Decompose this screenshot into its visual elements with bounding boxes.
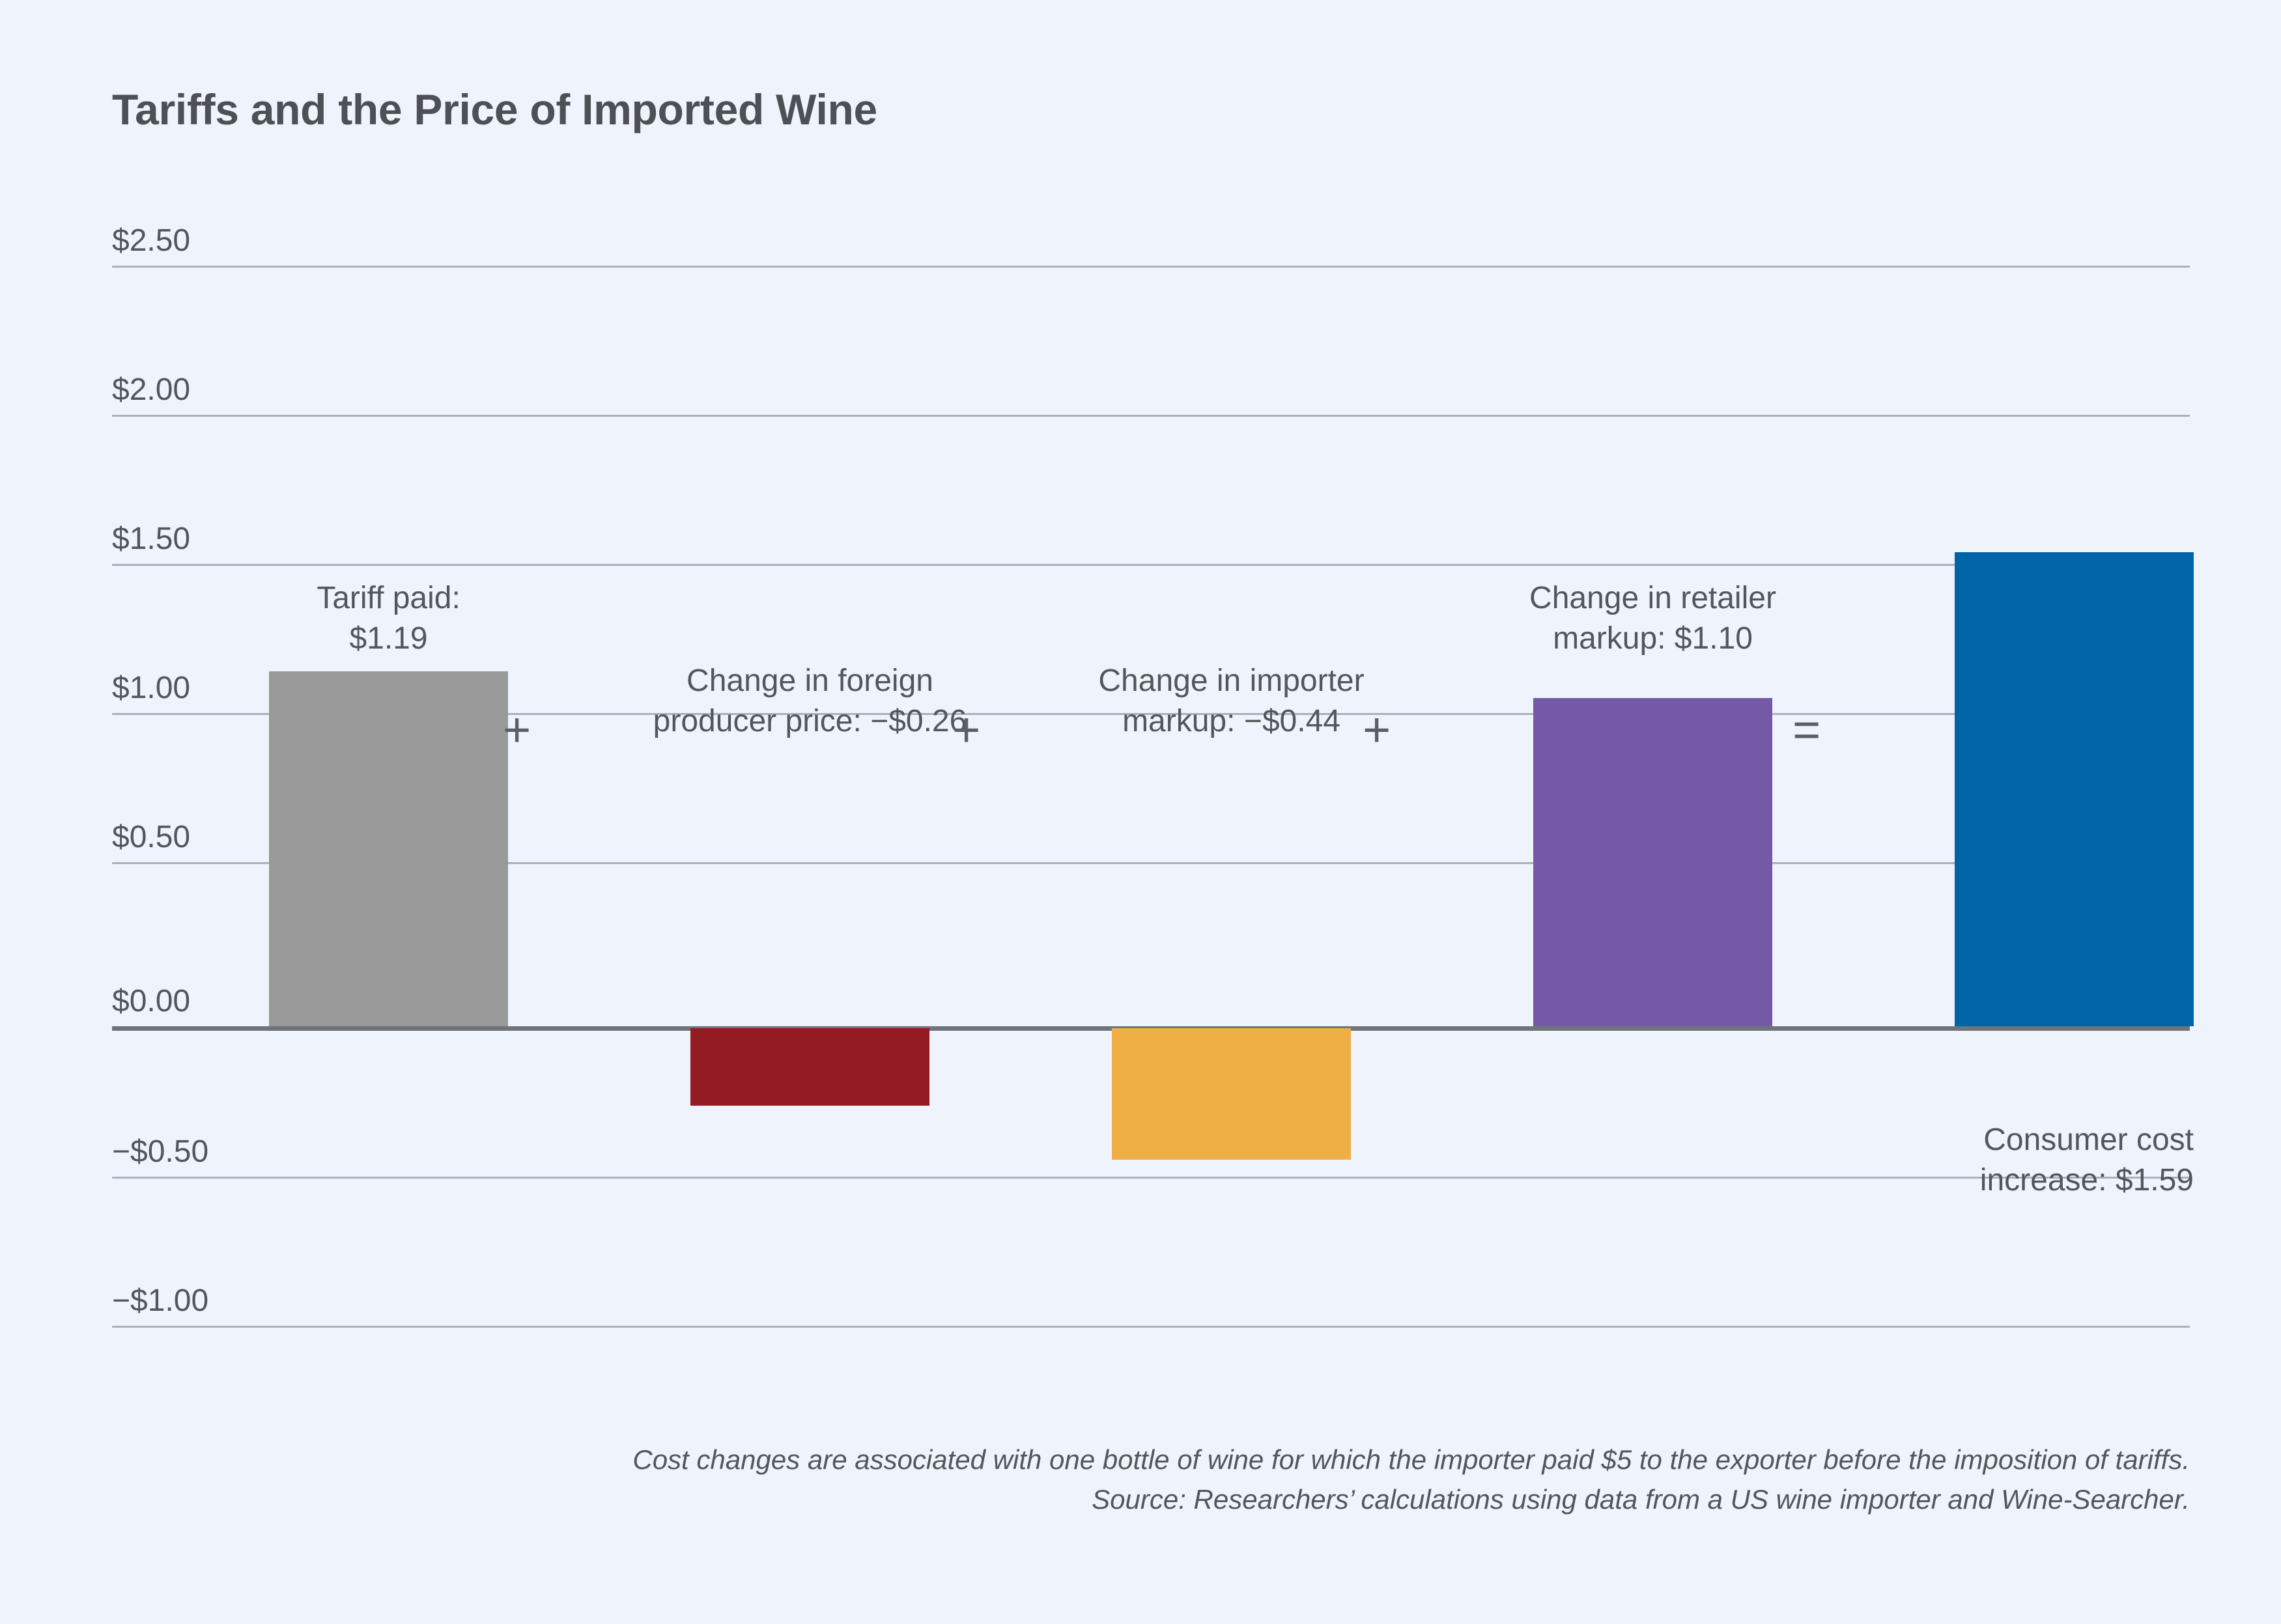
ytick-label-0-00: $0.00 [112, 986, 190, 1017]
footnote-source-line: Source: Researchers’ calculations using … [112, 1480, 2190, 1520]
gridline-2-50 [112, 266, 2190, 268]
ytick-label-2-00: $2.00 [112, 374, 190, 406]
operator-equals: = [1792, 706, 1821, 754]
page-title: Tariffs and the Price of Imported Wine [112, 85, 877, 134]
bar-label-change-retailer-markup: Change in retailer markup: $1.10 [1403, 578, 1903, 660]
footnote-line-1: Cost changes are associated with one bot… [112, 1440, 2190, 1480]
bar-consumer-cost-increase[interactable] [1955, 552, 2194, 1026]
bar-tariff-paid[interactable] [269, 671, 508, 1026]
ytick-label-1-00: $1.00 [112, 673, 190, 704]
ytick-label-0-50: $0.50 [112, 822, 190, 853]
operator-plus-1: + [503, 706, 531, 754]
operator-plus-2: + [952, 706, 980, 754]
ytick-label-2-50: $2.50 [112, 225, 190, 257]
operator-plus-3: + [1363, 706, 1391, 754]
bar-change-retailer-markup[interactable] [1533, 698, 1772, 1026]
bar-change-foreign-producer-price[interactable] [690, 1028, 929, 1106]
gridline-neg-1-00 [112, 1326, 2190, 1328]
ytick-label-neg-0-50: −$0.50 [112, 1136, 208, 1168]
ytick-label-neg-1-00: −$1.00 [112, 1285, 208, 1317]
ytick-label-1-50: $1.50 [112, 524, 190, 555]
gridline-2-00 [112, 415, 2190, 417]
gridline-1-50 [112, 564, 2190, 566]
bar-label-change-importer-markup: Change in importer markup: −$0.44 [988, 661, 1475, 742]
chart-plot-area: $2.50 $2.00 $1.50 $1.00 $0.50 $0.00 −$0.… [112, 247, 2190, 1341]
chart-footnote: Cost changes are associated with one bot… [112, 1440, 2190, 1520]
bar-change-importer-markup[interactable] [1112, 1028, 1351, 1160]
bar-label-consumer-cost-increase: Consumer cost increase: $1.59 [1824, 1120, 2194, 1201]
bar-label-tariff-paid: Tariff paid: $1.19 [204, 578, 573, 660]
